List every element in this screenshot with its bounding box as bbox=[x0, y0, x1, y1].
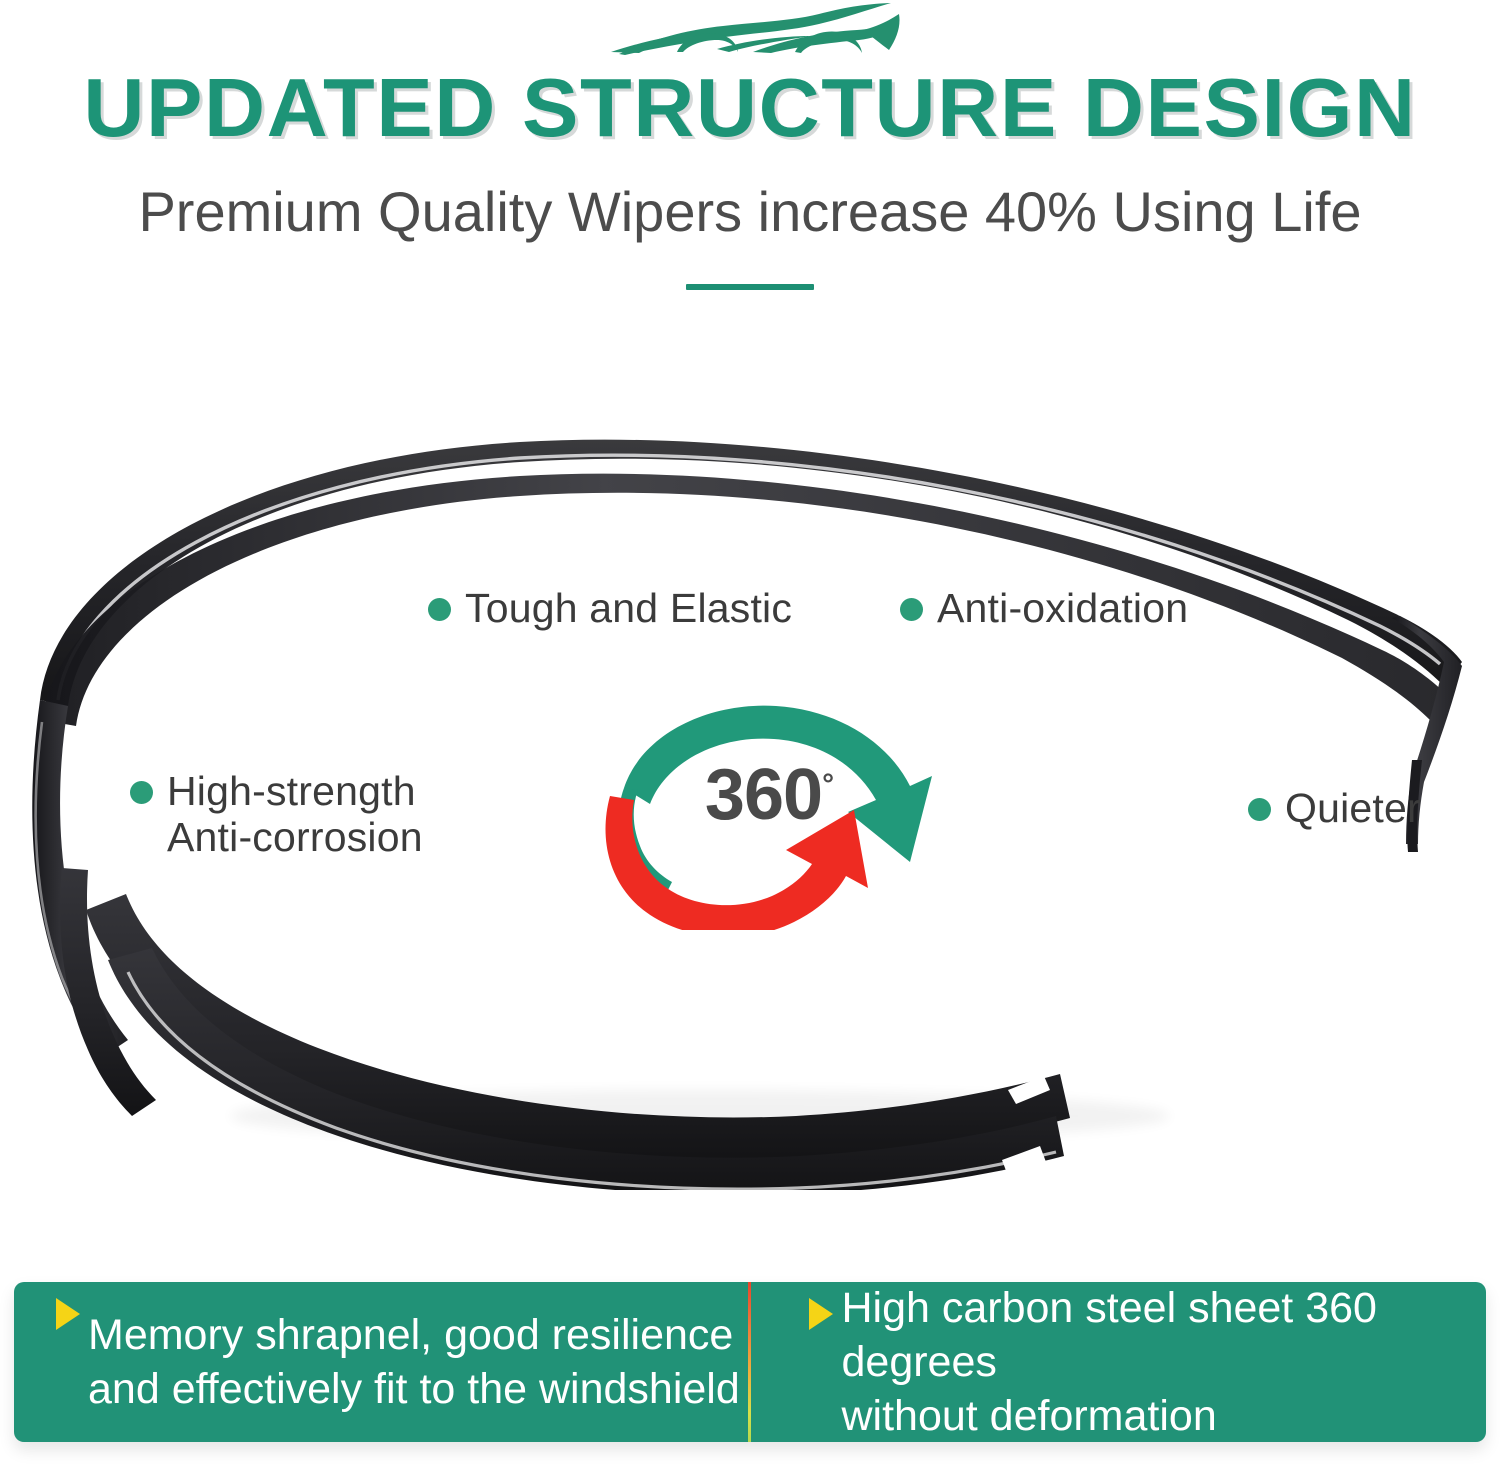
feature-anti-oxidation: Anti-oxidation bbox=[900, 585, 1188, 631]
feature-quieter: Quieter bbox=[1248, 785, 1421, 831]
product-infographic: UPDATED STRUCTURE DESIGN Premium Quality… bbox=[0, 0, 1500, 1475]
feature-label: High-strength Anti-corrosion bbox=[167, 768, 423, 860]
bullet-dot-icon bbox=[428, 598, 451, 621]
car-swoosh-logo bbox=[605, 2, 905, 64]
feature-tough-and-elastic: Tough and Elastic bbox=[428, 585, 792, 631]
feature-label: Anti-oxidation bbox=[937, 585, 1188, 631]
rotation-360-badge: 360° bbox=[580, 700, 950, 930]
banner-panel-text: Memory shrapnel, good resilience and eff… bbox=[88, 1308, 740, 1416]
page-subtitle: Premium Quality Wipers increase 40% Usin… bbox=[0, 178, 1500, 246]
banner-panel-memory-shrapnel: Memory shrapnel, good resilience and eff… bbox=[14, 1282, 748, 1442]
banner-panel-text: High carbon steel sheet 360 degrees with… bbox=[841, 1281, 1486, 1443]
bullet-dot-icon bbox=[130, 781, 153, 804]
triangle-right-icon bbox=[809, 1298, 833, 1330]
feature-label: Tough and Elastic bbox=[465, 585, 792, 631]
banner-panel-high-carbon-steel: High carbon steel sheet 360 degrees with… bbox=[751, 1282, 1486, 1442]
feature-label: Quieter bbox=[1285, 785, 1421, 831]
triangle-right-icon bbox=[56, 1298, 80, 1330]
feature-high-strength-anti-corrosion: High-strength Anti-corrosion bbox=[130, 768, 423, 860]
page-title: UPDATED STRUCTURE DESIGN bbox=[0, 62, 1500, 154]
bottom-feature-banner: Memory shrapnel, good resilience and eff… bbox=[14, 1282, 1486, 1442]
bullet-dot-icon bbox=[1248, 798, 1271, 821]
title-underline-rule bbox=[686, 284, 814, 290]
bullet-dot-icon bbox=[900, 598, 923, 621]
360-value: 360° bbox=[580, 754, 950, 836]
